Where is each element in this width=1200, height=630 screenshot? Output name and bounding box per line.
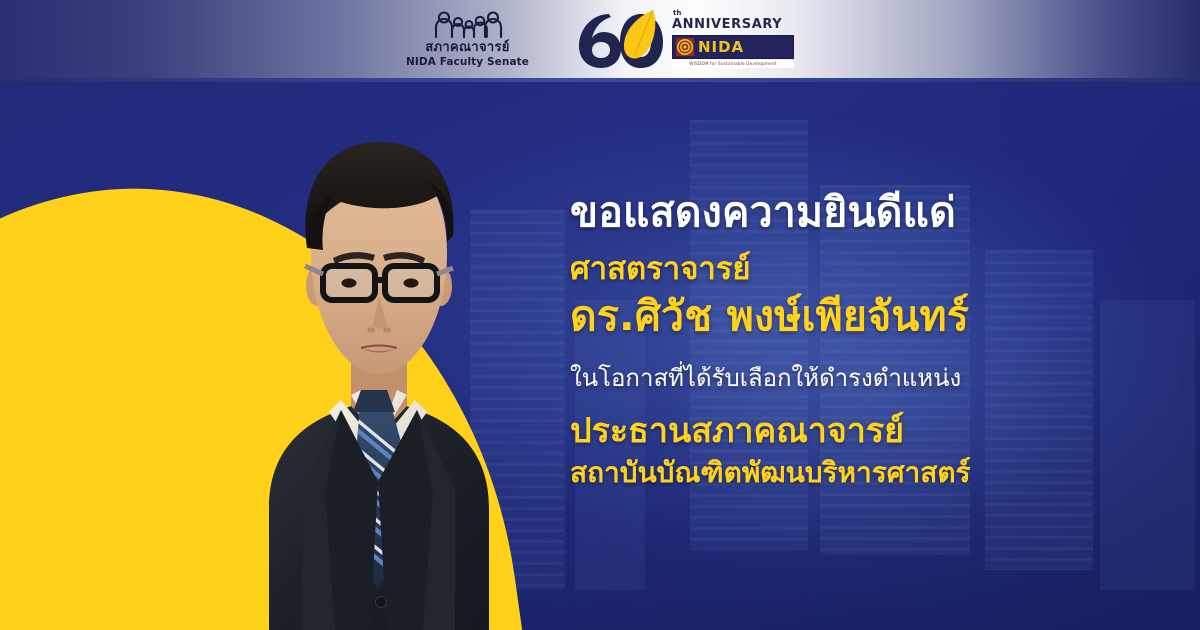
message-text-block: ขอแสดงความยินดีแด่ ศาสตราจารย์ ดร.ศิวัช … [570, 188, 1170, 491]
portrait-photo [165, 90, 595, 630]
congratulation-banner: ขอแสดงความยินดีแด่ ศาสตราจารย์ ดร.ศิวัช … [0, 0, 1200, 630]
congratulation-line: ขอแสดงความยินดีแด่ [570, 188, 1170, 236]
bullseye-target-icon [676, 38, 694, 56]
nida-badge-name: NIDA [698, 40, 744, 55]
faculty-senate-english-name: NIDA Faculty Senate [406, 56, 529, 69]
anniversary-word: ANNIVERSARY [672, 18, 782, 32]
sixty-with-leaf-icon [571, 8, 667, 70]
faculty-senate-logo: สภาคณาจารย์ NIDA Faculty Senate [406, 10, 529, 69]
position-title: ประธานสภาคณาจารย์ [570, 410, 1170, 453]
three-people-icon [431, 10, 505, 40]
person-name: ดร.ศิวัช พงษ์เพียจันทร์ [570, 292, 1170, 341]
nida-badge: NIDA [672, 35, 794, 59]
occasion-line: ในโอกาสที่ได้รับเลือกให้ดำรงตำแหน่ง [570, 363, 1170, 394]
anniversary-logo: th ANNIVERSARY NIDA WISDOM for Sustainab… [571, 8, 794, 70]
institute-name: สถาบันบัณฑิตพัฒนบริหารศาสตร์ [570, 455, 1170, 491]
academic-title: ศาสตราจารย์ [570, 249, 1170, 289]
nida-badge-tagline: WISDOM for Sustainable Development [672, 60, 794, 67]
header-underline [0, 78, 1200, 82]
anniversary-ordinal: th [673, 10, 681, 17]
faculty-senate-thai-name: สภาคณาจารย์ [425, 41, 509, 55]
header-logo-row: สภาคณาจารย์ NIDA Faculty Senate th ANNIV… [0, 0, 1200, 78]
